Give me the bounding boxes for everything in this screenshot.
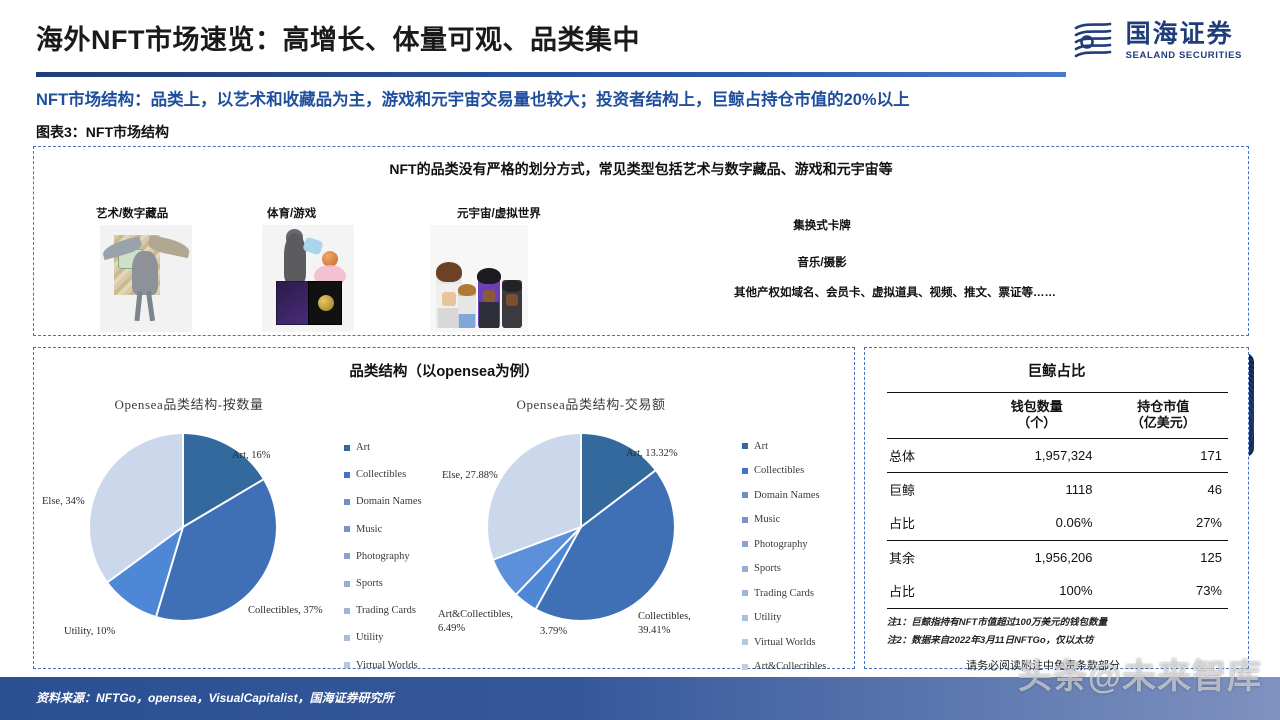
table-row: 巨鲸111846: [887, 472, 1228, 506]
legend-swatch-icon: [344, 635, 350, 641]
chart-2-label-art: Art, 13.32%: [626, 448, 678, 459]
legend-label: Domain Names: [754, 490, 820, 501]
legend-item: Sports: [344, 570, 422, 597]
source-text: 资料来源：NFTGo，opensea，VisualCapitalist，国海证券…: [36, 689, 394, 706]
legend-label: Utility: [356, 632, 383, 643]
pie-chart-by-volume: Opensea品类结构-交易额 Art, 13.32% Else, 27.88%…: [446, 386, 846, 656]
table-cell-wallets: 1,956,206: [975, 540, 1099, 574]
table-cell-value: 73%: [1099, 574, 1228, 608]
legend-label: Art&Collectibles: [754, 661, 826, 672]
legend-item: Photography: [742, 532, 826, 557]
header-divider: [36, 72, 1066, 77]
legend-swatch-icon: [742, 566, 748, 572]
legend-swatch-icon: [344, 608, 350, 614]
legend-label: Collectibles: [356, 469, 406, 480]
legend-item: Collectibles: [742, 459, 826, 484]
table-cell-value: 171: [1099, 438, 1228, 472]
legend-item: Art&Collectibles: [742, 655, 826, 680]
table-note-1: 注1：巨鲸指持有NFT市值超过100万美元的钱包数量: [887, 614, 1232, 628]
category-label-metaverse: 元宇宙/虚拟世界: [457, 205, 541, 221]
section-subtitle: NFT市场结构：品类上，以艺术和收藏品为主，游戏和元宇宙交易量也较大；投资者结构…: [36, 86, 1246, 110]
artwork-thumbnail-sports: [262, 225, 354, 332]
table-cell-label: 占比: [887, 506, 975, 540]
panel-heading: NFT的品类没有严格的划分方式，常见类型包括艺术与数字藏品、游戏和元宇宙等: [34, 159, 1248, 179]
artwork-thumbnail-art: [100, 225, 192, 332]
legend-swatch-icon: [742, 443, 748, 449]
category-structure-panel: 品类结构（以opensea为例） Opensea品类结构-按数量 Art, 16…: [33, 347, 855, 669]
legend-item: Trading Cards: [742, 581, 826, 606]
pie-slice-separator: [155, 527, 184, 617]
table-cell-value: 125: [1099, 540, 1228, 574]
legend-item: Utility: [742, 606, 826, 631]
legend-label: Art: [754, 441, 768, 452]
legend-swatch-icon: [742, 664, 748, 670]
table-cell-wallets: 0.06%: [975, 506, 1099, 540]
table-cell-value: 46: [1099, 472, 1228, 506]
chart-1-label-art: Art, 16%: [232, 450, 271, 461]
chart-2-legend: ArtCollectiblesDomain NamesMusicPhotogra…: [742, 434, 826, 679]
legend-swatch-icon: [742, 492, 748, 498]
chart-2-label-other: 3.79%: [540, 626, 567, 637]
pie-slice-separator: [182, 479, 263, 528]
artwork-thumbnail-avatars: [430, 225, 528, 332]
legend-label: Music: [356, 524, 382, 535]
legend-swatch-icon: [344, 526, 350, 532]
legend-item: Music: [742, 508, 826, 533]
legend-swatch-icon: [742, 468, 748, 474]
legend-item: Art: [742, 434, 826, 459]
table-cell-label: 占比: [887, 574, 975, 608]
legend-item: Art: [344, 434, 422, 461]
legend-swatch-icon: [344, 662, 350, 668]
logo-company-name-en: SEALAND SECURITIES: [1126, 50, 1242, 61]
pie-chart-by-quantity: Opensea品类结构-按数量 Art, 16% Else, 34% Colle…: [44, 386, 444, 656]
legend-swatch-icon: [344, 445, 350, 451]
table-cell-value: 27%: [1099, 506, 1228, 540]
legend-item: Virtual Worlds: [344, 652, 422, 679]
legend-swatch-icon: [344, 499, 350, 505]
legend-label: Trading Cards: [754, 588, 814, 599]
sealand-logo-icon: [1070, 18, 1116, 64]
legend-label: Trading Cards: [356, 605, 416, 616]
category-label-trading-cards: 集换式卡牌: [757, 217, 887, 233]
chart-2-label-else: Else, 27.88%: [442, 470, 498, 481]
legend-swatch-icon: [344, 581, 350, 587]
chart-2-label-art-collectibles: Art&Collectibles, 6.49%: [438, 608, 520, 636]
legend-label: Virtual Worlds: [754, 637, 816, 648]
legend-label: Utility: [754, 612, 781, 623]
legend-swatch-icon: [742, 615, 748, 621]
table-cell-label: 其余: [887, 540, 975, 574]
legend-label: Art: [356, 442, 370, 453]
figure-caption: 图表3：NFT市场结构: [36, 122, 169, 142]
table-header-value-line2: （亿美元）: [1131, 415, 1196, 430]
chart-1-label-collectibles: Collectibles, 37%: [248, 604, 334, 618]
table-header-blank: [887, 393, 975, 438]
table-row: 总体1,957,324171: [887, 438, 1228, 472]
slide-footer: 资料来源：NFTGo，opensea，VisualCapitalist，国海证券…: [0, 677, 1280, 720]
table-row: 占比0.06%27%: [887, 506, 1228, 540]
legend-swatch-icon: [344, 472, 350, 478]
slide-header: 海外NFT市场速览：高增长、体量可观、品类集中 国海证券 SEALAND SEC…: [0, 0, 1280, 80]
table-cell-wallets: 1118: [975, 472, 1099, 506]
pie-slice-separator: [580, 434, 582, 527]
legend-label: Virtual Worlds: [356, 660, 418, 671]
legend-swatch-icon: [742, 541, 748, 547]
nft-category-panel: NFT的品类没有严格的划分方式，常见类型包括艺术与数字藏品、游戏和元宇宙等 艺术…: [33, 146, 1249, 336]
legend-item: Domain Names: [742, 483, 826, 508]
table-panel-heading: 巨鲸占比: [865, 360, 1248, 381]
table-row: 其余1,956,206125: [887, 540, 1228, 574]
legend-item: Trading Cards: [344, 597, 422, 624]
category-label-art: 艺术/数字藏品: [96, 205, 168, 221]
table-bottom-rule: [887, 608, 1228, 609]
chart-2-pie: [488, 434, 674, 620]
table-header-value: 持仓市值 （亿美元）: [1099, 393, 1228, 438]
legend-item: Collectibles: [344, 461, 422, 488]
chart-1-label-utility: Utility, 10%: [64, 626, 115, 637]
pie-slice-separator: [580, 470, 655, 528]
whale-share-table: 钱包数量 （个） 持仓市值 （亿美元） 总体1,957,324171巨鲸1118…: [887, 392, 1228, 609]
pie-slice-separator: [107, 526, 183, 583]
legend-item: Utility: [344, 624, 422, 651]
company-logo: 国海证券 SEALAND SECURITIES: [1070, 18, 1242, 64]
category-label-other-rights: 其他产权如域名、会员卡、虚拟道具、视频、推文、票证等……: [734, 285, 914, 302]
legend-label: Photography: [356, 551, 410, 562]
table-header-wallets: 钱包数量 （个）: [975, 393, 1099, 438]
table-cell-label: 总体: [887, 438, 975, 472]
chart-2-label-collectibles: Collectibles, 39.41%: [638, 610, 724, 638]
legend-label: Photography: [754, 539, 808, 550]
table-cell-label: 巨鲸: [887, 472, 975, 506]
table-header-wallets-line1: 钱包数量: [1011, 399, 1063, 414]
legend-label: Sports: [754, 563, 781, 574]
table-cell-wallets: 100%: [975, 574, 1099, 608]
legend-swatch-icon: [742, 590, 748, 596]
legend-item: Virtual Worlds: [742, 630, 826, 655]
legend-item: Music: [344, 516, 422, 543]
category-label-music: 音乐/摄影: [757, 254, 887, 270]
legend-item: Photography: [344, 543, 422, 570]
chart-1-title: Opensea品类结构-按数量: [44, 394, 334, 413]
chart-1-legend: ArtCollectiblesDomain NamesMusicPhotogra…: [344, 434, 422, 679]
logo-company-name-cn: 国海证券: [1126, 21, 1242, 49]
table-header-value-line1: 持仓市值: [1137, 399, 1189, 414]
legend-label: Sports: [356, 578, 383, 589]
disclaimer-text: 请务必阅读附注中免责条款部分: [966, 657, 1120, 673]
page-title: 海外NFT市场速览：高增长、体量可观、品类集中: [36, 18, 640, 57]
legend-swatch-icon: [742, 639, 748, 645]
legend-label: Collectibles: [754, 465, 804, 476]
table-header-wallets-line2: （个）: [1017, 415, 1056, 430]
chart-1-pie: [90, 434, 276, 620]
table-row: 占比100%73%: [887, 574, 1228, 608]
chart-1-label-else: Else, 34%: [42, 496, 85, 507]
pie-slice-separator: [182, 434, 184, 527]
legend-label: Domain Names: [356, 496, 422, 507]
legend-item: Domain Names: [344, 488, 422, 515]
legend-item: Sports: [742, 557, 826, 582]
pie-slice-separator: [493, 526, 581, 560]
category-label-sports: 体育/游戏: [267, 205, 316, 221]
legend-swatch-icon: [742, 517, 748, 523]
legend-label: Music: [754, 514, 780, 525]
chart-2-title: Opensea品类结构-交易额: [446, 394, 736, 413]
table-cell-wallets: 1,957,324: [975, 438, 1099, 472]
charts-panel-heading: 品类结构（以opensea为例）: [34, 360, 854, 381]
whale-share-panel: 巨鲸占比 钱包数量 （个） 持仓市值 （亿美元） 总体1,957,324171巨…: [864, 347, 1249, 669]
legend-swatch-icon: [344, 553, 350, 559]
table-note-2: 注2：数据来自2022年3月11日NFTGo，仅以太坊: [887, 632, 1232, 646]
